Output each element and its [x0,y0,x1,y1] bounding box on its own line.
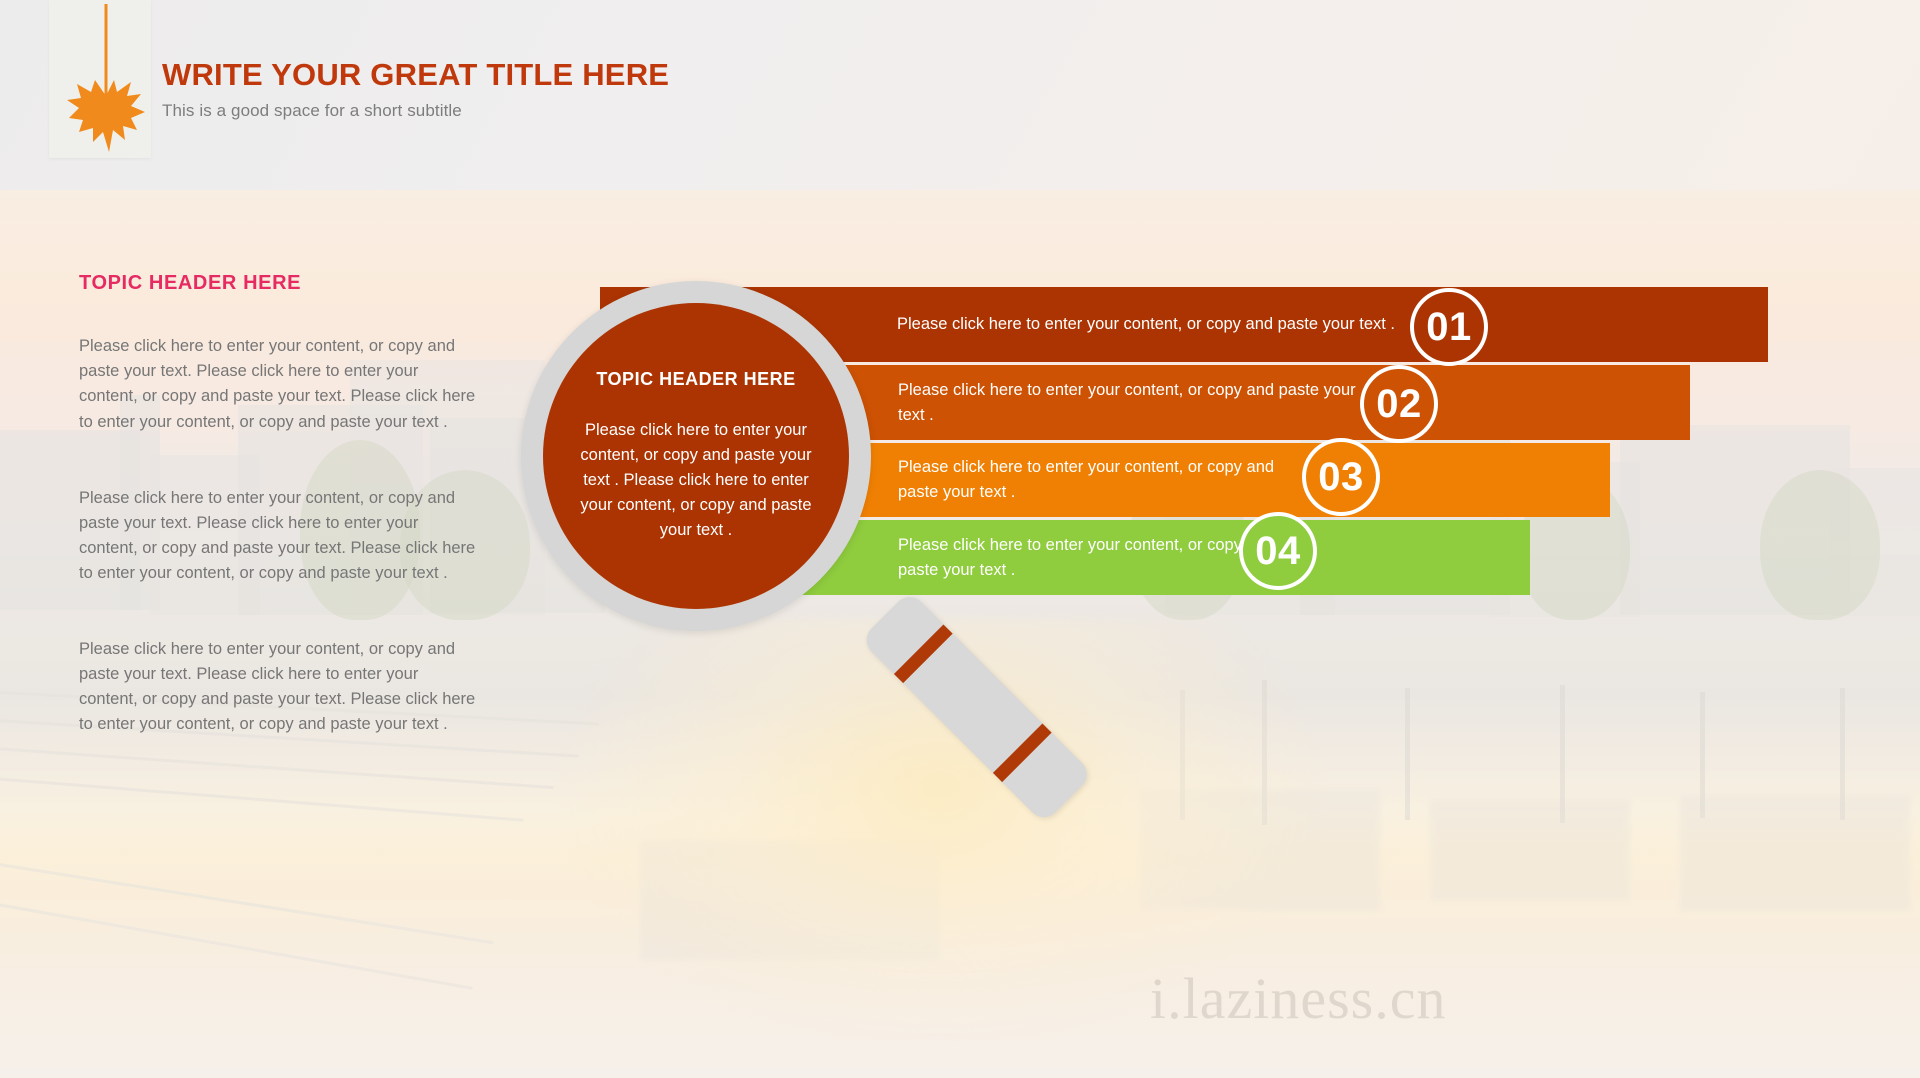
bar-number-badge-04[interactable]: 04 [1239,512,1317,590]
lens-body-text: Please click here to enter your content,… [567,418,825,543]
magnifier-lens[interactable]: TOPIC HEADER HERE Please click here to e… [543,303,849,609]
lens-topic-header: TOPIC HEADER HERE [596,369,795,390]
bar-item-text: Please click here to enter your content,… [898,533,1298,583]
bar-number-badge-02[interactable]: 02 [1360,365,1438,443]
bar-item-text: Please click here to enter your content,… [898,455,1318,505]
bar-number-badge-03[interactable]: 03 [1302,438,1380,516]
bar-list: Please click here to enter your content,… [0,0,1920,1078]
bar-item-text: Please click here to enter your content,… [897,312,1417,337]
watermark: i.laziness.cn [1150,965,1446,1032]
bar-item-text: Please click here to enter your content,… [898,378,1378,428]
bar-number-badge-01[interactable]: 01 [1410,288,1488,366]
